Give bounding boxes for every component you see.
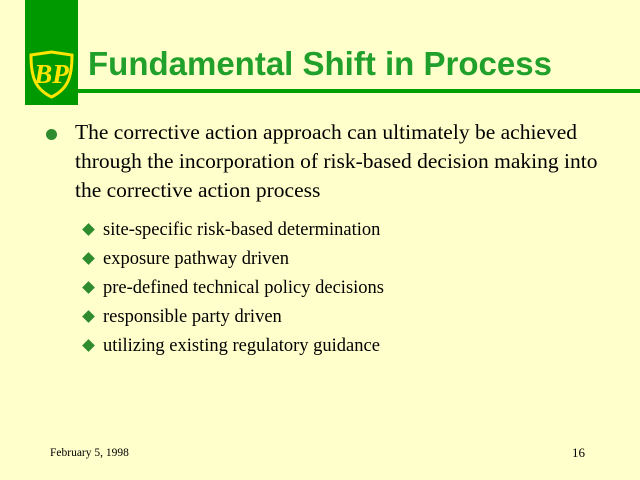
title-divider — [78, 89, 640, 93]
list-item: utilizing existing regulatory guidance — [0, 332, 640, 361]
round-bullet-icon — [46, 129, 57, 140]
sub-bullet-text: utilizing existing regulatory guidance — [103, 336, 380, 356]
sub-bullet-text: exposure pathway driven — [103, 249, 289, 269]
sub-bullet-text: responsible party driven — [103, 307, 282, 327]
diamond-bullet-icon — [82, 252, 95, 265]
bp-shield-logo: BP — [28, 47, 75, 99]
list-item: responsible party driven — [0, 303, 640, 332]
sub-bullet-text: site-specific risk-based determination — [103, 220, 380, 240]
diamond-bullet-icon — [82, 223, 95, 236]
main-bullet-text: The corrective action approach can ultim… — [75, 120, 597, 202]
list-item: site-specific risk-based determination — [0, 216, 640, 245]
list-item: pre-defined technical policy decisions — [0, 274, 640, 303]
main-bullet-item: The corrective action approach can ultim… — [0, 118, 640, 205]
content-area: The corrective action approach can ultim… — [0, 118, 640, 361]
page-title: Fundamental Shift in Process — [88, 45, 552, 83]
sub-bullet-list: site-specific risk-based determination e… — [0, 216, 640, 361]
diamond-bullet-icon — [82, 310, 95, 323]
diamond-bullet-icon — [82, 339, 95, 352]
footer-date: February 5, 1998 — [50, 447, 129, 459]
slide-canvas: BP Fundamental Shift in Process The corr… — [0, 0, 640, 480]
brand-bar: BP — [25, 0, 78, 105]
diamond-bullet-icon — [82, 281, 95, 294]
bp-logo-text: BP — [33, 59, 69, 89]
list-item: exposure pathway driven — [0, 245, 640, 274]
footer-page-number: 16 — [572, 445, 585, 461]
sub-bullet-text: pre-defined technical policy decisions — [103, 278, 384, 298]
